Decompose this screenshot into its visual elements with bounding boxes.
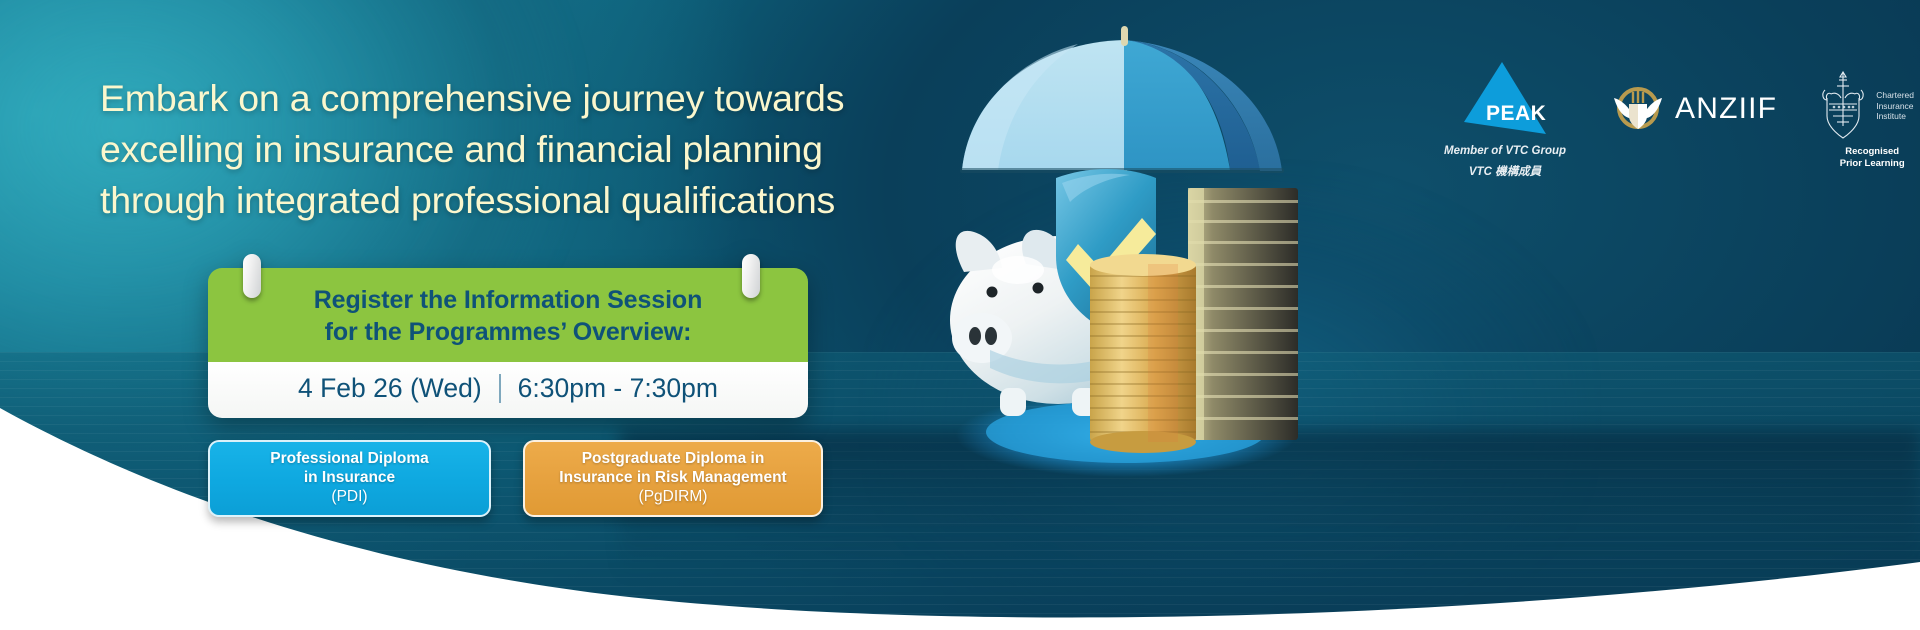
page-title: Embark on a comprehensive journey toward… — [100, 73, 920, 226]
cii-name-line-1: Chartered — [1876, 90, 1914, 101]
session-date: 4 Feb 26 (Wed) — [298, 371, 482, 405]
session-time: 6:30pm - 7:30pm — [518, 371, 718, 405]
programme-buttons: Professional Diploma in Insurance (PDI) … — [208, 440, 823, 517]
anziif-emblem-icon — [1610, 84, 1666, 134]
peak-triangle-icon — [1458, 60, 1550, 138]
cii-logo: Chartered Insurance Institute Recognised… — [1817, 68, 1920, 170]
register-card-schedule: 4 Feb 26 (Wed) 6:30pm - 7:30pm — [208, 362, 808, 418]
programme-pdi-button[interactable]: Professional Diploma in Insurance (PDI) — [208, 440, 491, 517]
cii-status-line-2: Prior Learning — [1817, 158, 1920, 170]
register-title-line-1: Register the Information Session — [232, 284, 784, 316]
headline-line-2: excelling in insurance and financial pla… — [100, 124, 920, 175]
peak-wordmark: PEAK — [1486, 102, 1546, 126]
anziif-wordmark: ANZIIF — [1675, 92, 1777, 126]
peak-logo: PEAK Member of VTC Group VTC 機構成員 — [1440, 60, 1570, 180]
register-title-line-2: for the Programmes’ Overview: — [232, 316, 784, 348]
gold-coin-stack — [1090, 254, 1196, 453]
pin-right-icon — [742, 254, 760, 298]
register-card-header: Register the Information Session for the… — [208, 268, 808, 362]
register-session-card[interactable]: Register the Information Session for the… — [208, 268, 808, 418]
umbrella-canopy — [960, 26, 1284, 173]
pgdirm-line-2: Insurance in Risk Management — [559, 468, 786, 487]
programme-pgdirm-button[interactable]: Postgraduate Diploma in Insurance in Ris… — [523, 440, 823, 517]
cii-crest-icon — [1817, 68, 1869, 142]
partner-logos: PEAK Member of VTC Group VTC 機構成員 ANZIIF — [1440, 60, 1920, 180]
cii-name-line-3: Institute — [1876, 111, 1914, 122]
pgdirm-abbreviation: (PgDIRM) — [639, 487, 708, 507]
headline-line-1: Embark on a comprehensive journey toward… — [100, 73, 920, 124]
peak-subtitle-line-2: VTC 機構成員 — [1440, 165, 1570, 180]
banknote-stack — [1188, 188, 1298, 440]
peak-subtitle-line-1: Member of VTC Group — [1440, 144, 1570, 159]
cii-name-line-2: Insurance — [1876, 101, 1914, 112]
pgdirm-line-1: Postgraduate Diploma in — [582, 449, 765, 468]
schedule-divider — [499, 374, 501, 403]
pdi-line-1: Professional Diploma — [270, 449, 428, 468]
pdi-abbreviation: (PDI) — [331, 487, 367, 507]
pin-left-icon — [243, 254, 261, 298]
insurance-illustration — [930, 20, 1350, 520]
promo-banner: Embark on a comprehensive journey toward… — [0, 0, 1920, 630]
cii-status-line-1: Recognised — [1817, 146, 1920, 158]
headline-line-3: through integrated professional qualific… — [100, 175, 920, 226]
pdi-line-2: in Insurance — [304, 468, 395, 487]
anziif-logo: ANZIIF — [1610, 84, 1777, 134]
